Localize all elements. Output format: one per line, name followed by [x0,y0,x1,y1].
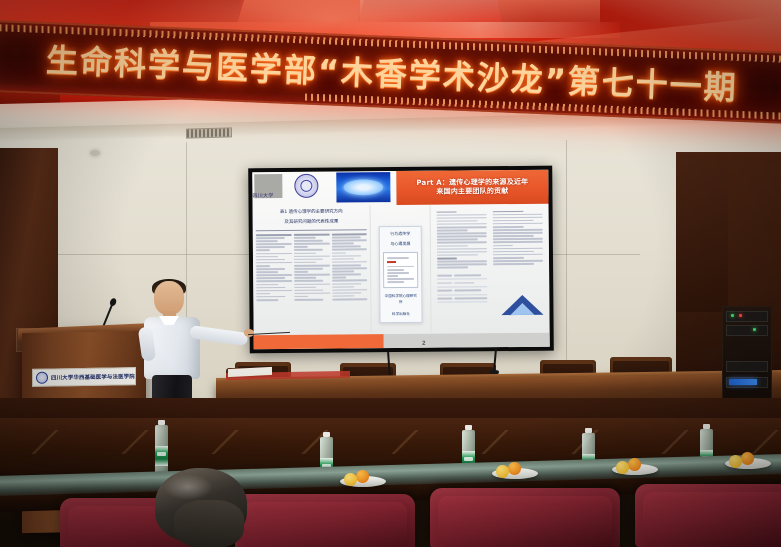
slide-title-banner: Part A：遗传心理学的来源及近年 来国内主要团队的贡献 [396,170,548,205]
slide-right-column [430,204,549,332]
front-table-carving [0,430,781,454]
slide-body: 表1 遗传心理学的主要研究方向 及其研究问题的代表性成果 [253,204,550,334]
wall-seam [566,140,567,380]
seal-caption: 四川大学 [252,192,328,200]
water-bottle[interactable] [155,420,168,478]
status-led-icon [739,314,742,317]
fruit-plate [725,452,771,468]
book-title-line1: 行为遗传学 [382,231,418,238]
audience-seat[interactable] [430,488,620,547]
audience-seat[interactable] [635,484,781,547]
university-seal-icon [36,372,48,384]
podium-nameplate: 四川大学华西基础医学与法医学院 [32,367,136,387]
ceiling-spotlight-icon [90,150,100,156]
slide-left-column: 表1 遗传心理学的主要研究方向 及其研究问题的代表性成果 [253,205,372,333]
book-publisher-line1: 中国科学院心理研究所 [383,294,419,306]
fruit-plate [340,470,386,486]
table-row [437,295,487,303]
book-publisher-line2: 科学出版社 [383,312,419,318]
blue-banner-image [336,172,390,202]
slide-footer: 2 [254,331,550,350]
slide-page-number: 2 [422,341,425,347]
table-column [256,232,292,302]
slide-header-row: 四川大学 Part A：遗传心理学的来源及近年 来国内主要团队的贡献 [252,170,548,207]
table-column [294,232,330,302]
slide-footer-accent [254,334,384,349]
podium-nameplate-text: 四川大学华西基础医学与法医学院 [51,372,135,381]
lecture-hall-photo: 生命科学与医学部“木香学术沙龙”第七十一期 四川大学 Part A：遗传心理学的… [0,0,781,547]
book-title-line2: 与心理发展 [382,241,418,248]
table-rule [256,229,367,231]
status-led-icon [753,328,756,331]
air-vent-icon [186,127,232,138]
rack-display-icon [729,379,757,385]
left-table-title-line1: 表1 遗传心理学的主要研究方向 [256,209,367,217]
speaker-head [154,281,184,315]
presentation-slide: 四川大学 Part A：遗传心理学的来源及近年 来国内主要团队的贡献 表1 遗传… [252,170,550,350]
left-table [256,232,368,303]
audience-seat[interactable] [235,494,415,547]
publisher-triangle-logo [501,293,543,315]
paper-table [437,272,487,303]
slide-middle-column: 行为遗传学 与心理发展 中国科学院心理研究所 科学出版社 [371,205,431,333]
av-equipment-rack[interactable] [722,306,772,410]
paper-text-column-1 [433,207,490,328]
book-cover-image: 行为遗传学 与心理发展 中国科学院心理研究所 科学出版社 [378,226,423,323]
book-cover-accent [387,261,396,263]
audience-member-head-lower [174,500,244,547]
slide-footer-grey [384,333,550,348]
side-door[interactable] [676,152,728,312]
status-led-icon [731,314,734,317]
fruit-plate [612,458,658,474]
left-table-title-line2: 及其研究问题的代表性成果 [256,219,367,227]
table-column [331,232,367,302]
fruit-plate [492,462,538,478]
projection-screen-frame: 四川大学 Part A：遗传心理学的来源及近年 来国内主要团队的贡献 表1 遗传… [248,166,554,354]
slide-title-line2: 来国内主要团队的贡献 [436,187,508,196]
projection-screen: 四川大学 Part A：遗传心理学的来源及近年 来国内主要团队的贡献 表1 遗传… [252,170,550,350]
book-cover-inner-box [382,252,418,289]
